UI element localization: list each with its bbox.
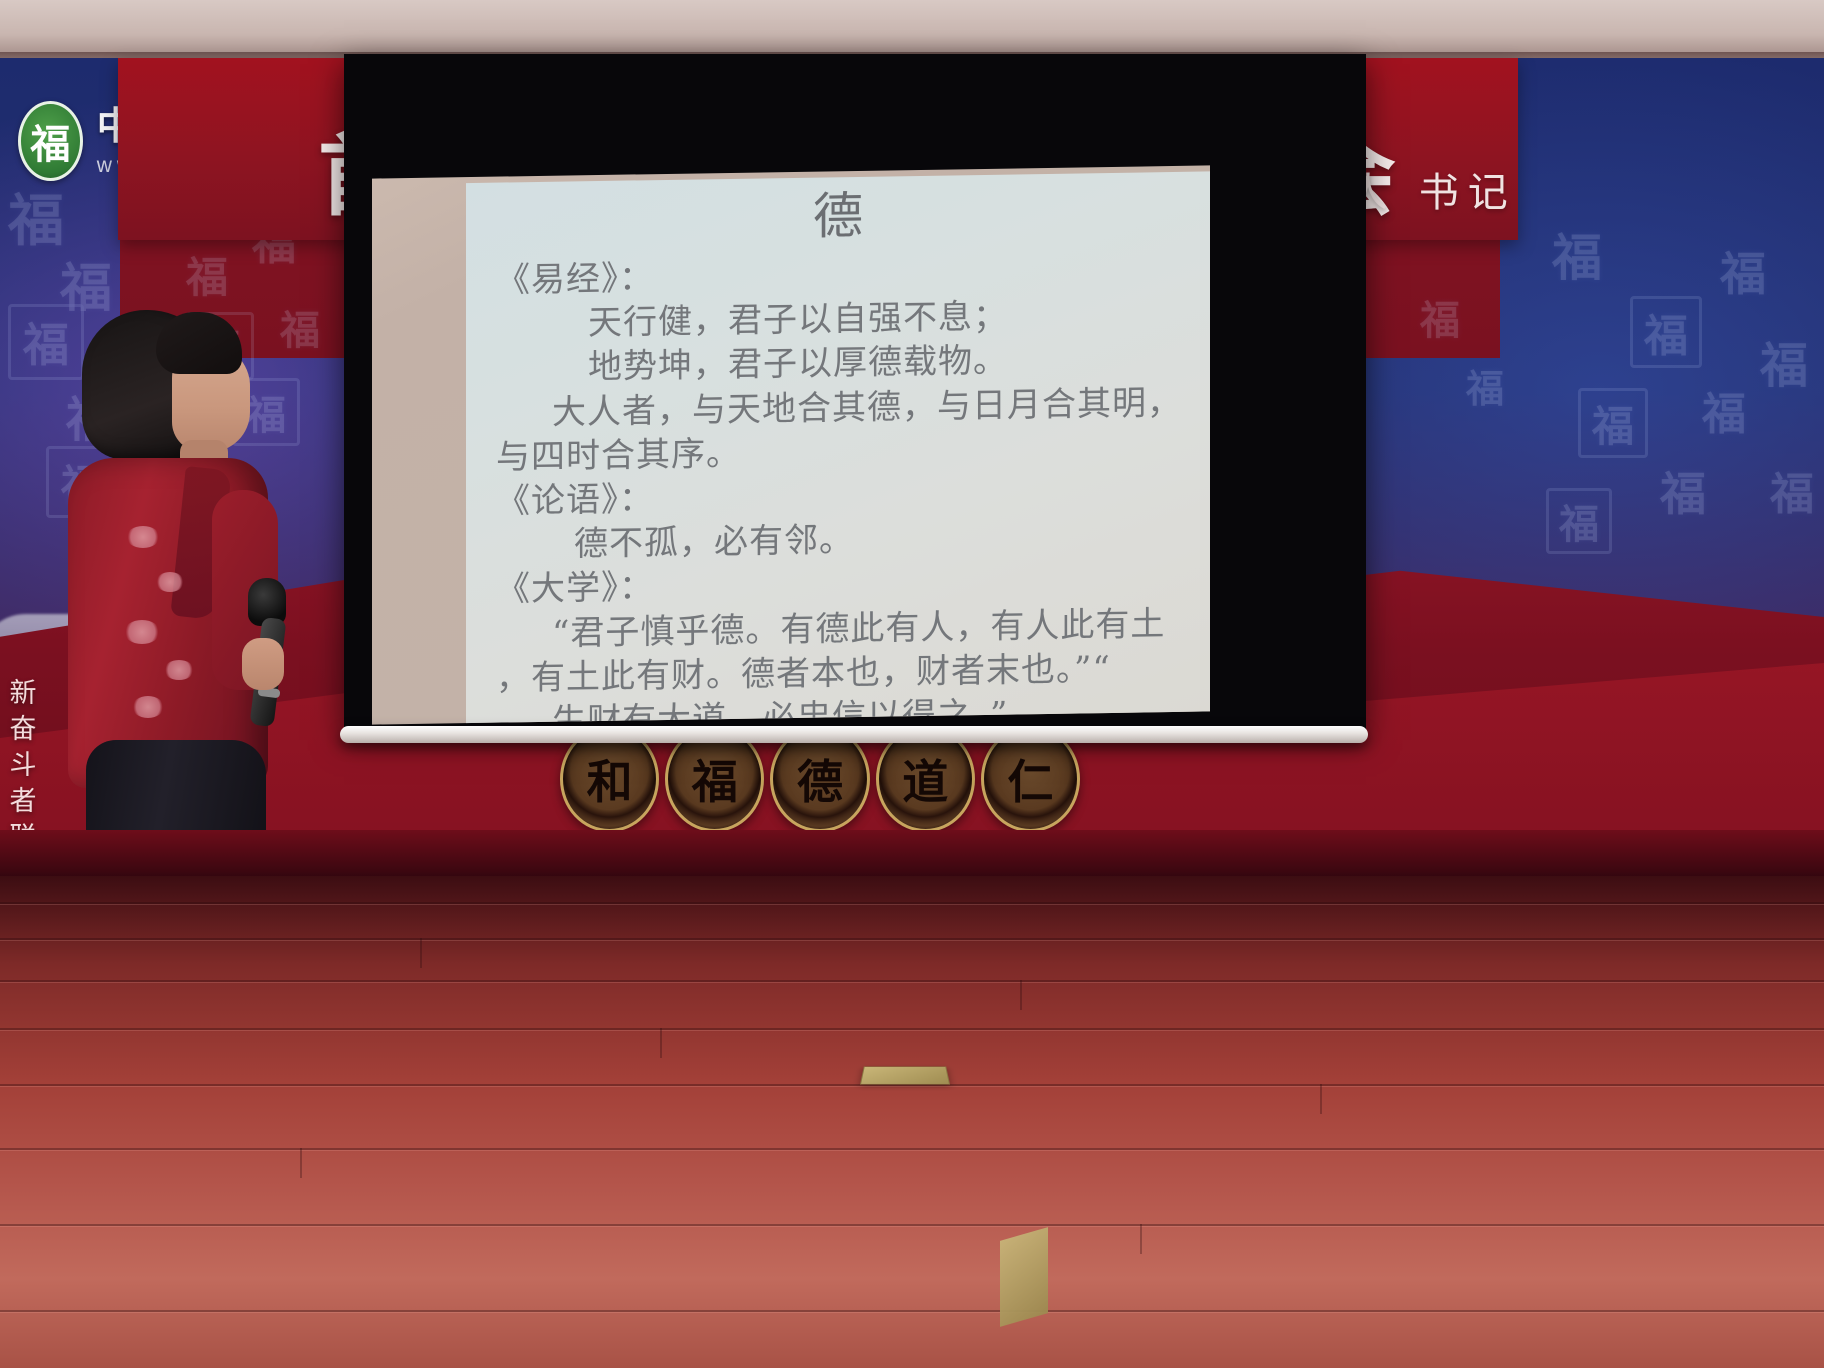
floor-seam <box>1140 1224 1142 1254</box>
jacket-embroidery <box>124 620 160 644</box>
floor-plank-line <box>0 1148 1824 1150</box>
floor-plank-line <box>0 1224 1824 1226</box>
floor-plank-line <box>0 938 1824 940</box>
floor-plank-line <box>0 1310 1824 1312</box>
floor-plank-line <box>0 902 1824 904</box>
floor-outlet-plate-secondary <box>1000 1227 1048 1327</box>
floor-seam <box>300 1148 302 1178</box>
speaker-hair-front <box>156 312 242 374</box>
floor-seam <box>1020 980 1022 1010</box>
floor-plank-line <box>0 1028 1824 1030</box>
slide-body: 《易经》： 天行健，君子以自强不息； 地势坤，君子以厚德载物。 大人者，与天地合… <box>496 248 1196 725</box>
floor-outlet-plate <box>860 1066 950 1084</box>
conference-hall-scene: 福 福 福 福 福 福 福 福 福 福 福 福 福 福 福 福 福 福 福 福 … <box>0 0 1824 1368</box>
jacket-embroidery <box>126 526 160 548</box>
slide-title: 德 <box>466 185 1210 247</box>
jacket-embroidery <box>164 660 194 680</box>
floor-seam <box>1320 1084 1322 1114</box>
jacket-embroidery <box>156 572 184 592</box>
floor-seam <box>660 1028 662 1058</box>
screen-roller-bar <box>340 726 1368 743</box>
projection-screen-surface: 德 《易经》： 天行健，君子以自强不息； 地势坤，君子以厚德载物。 大人者，与天… <box>372 165 1210 724</box>
floor-seam <box>420 938 422 968</box>
fu-logo-icon: 福 <box>18 101 83 181</box>
floor-plank-line <box>0 980 1824 982</box>
jacket-embroidery <box>132 696 164 718</box>
speaker-hand-mic <box>242 638 284 690</box>
presentation-slide: 德 《易经》： 天行健，君子以自强不息； 地势坤，君子以厚德载物。 大人者，与天… <box>466 171 1210 724</box>
stage-floor <box>0 876 1824 1368</box>
